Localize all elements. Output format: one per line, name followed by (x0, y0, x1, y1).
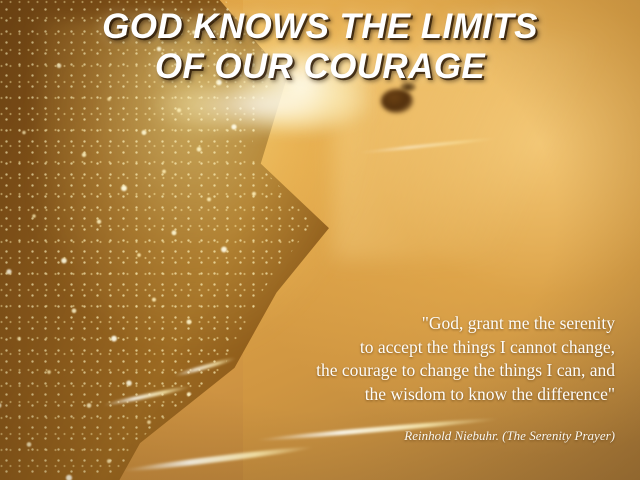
inspirational-poster: GOD KNOWS THE LIMITS OF OUR COURAGE "God… (0, 0, 640, 480)
quote-attribution: Reinhold Niebuhr. (The Serenity Prayer) (185, 427, 615, 444)
poster-headline: GOD KNOWS THE LIMITS OF OUR COURAGE (0, 7, 640, 87)
serenity-prayer-quote: "God, grant me the serenity to accept th… (185, 312, 615, 406)
